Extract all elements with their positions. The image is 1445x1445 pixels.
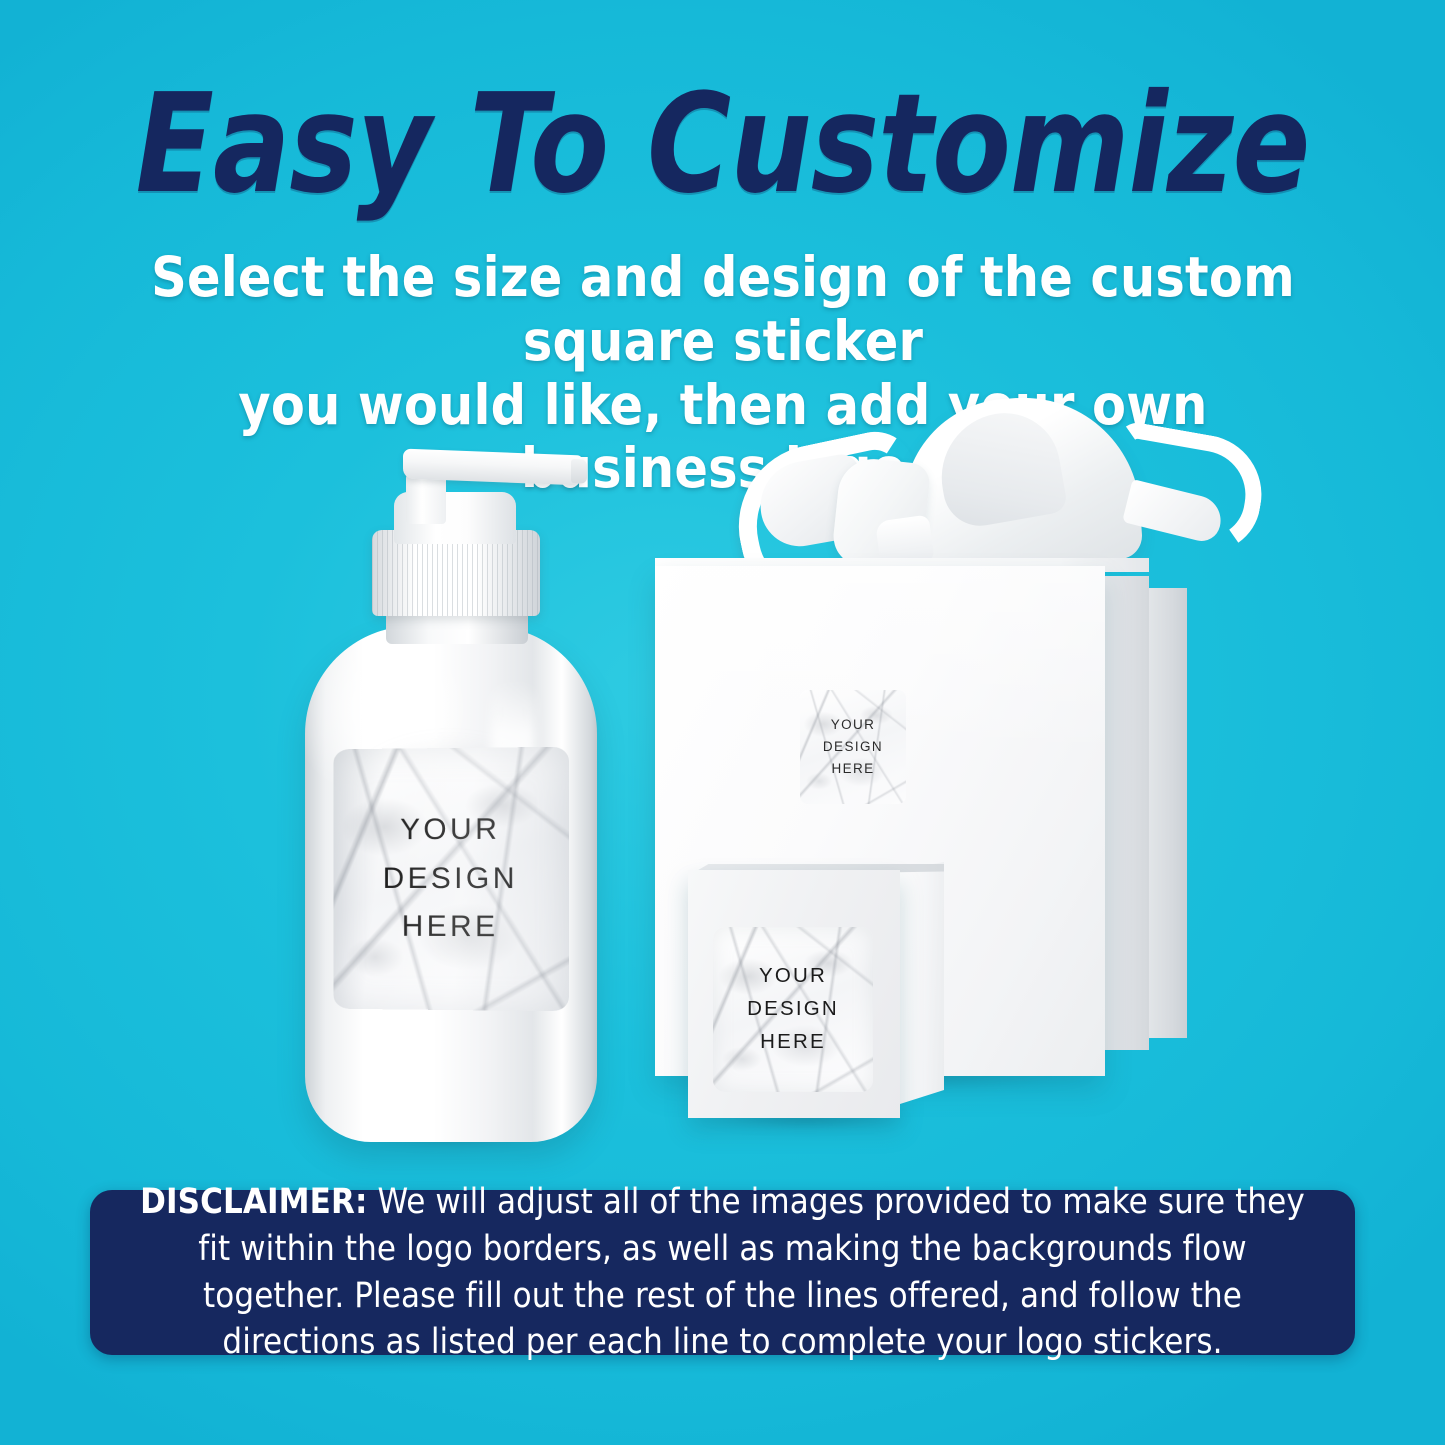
sticker-line-3: HERE: [831, 758, 874, 780]
giftbox-marble-sticker: YOUR DESIGN HERE: [800, 690, 906, 804]
disclaimer-box: DISCLAIMER: We will adjust all of the im…: [90, 1190, 1355, 1355]
bottle-marble-sticker: YOUR DESIGN HERE: [333, 747, 569, 1012]
sticker-line-1: YOUR: [400, 806, 500, 855]
disclaimer-term: DISCLAIMER:: [140, 1182, 367, 1222]
giftbox-side-panel: [1105, 576, 1149, 1050]
sticker-line-2: DESIGN: [747, 993, 839, 1026]
bottle-pump-plunger: [406, 474, 446, 524]
smallbox-marble-sticker: YOUR DESIGN HERE: [713, 927, 873, 1092]
page-title: Easy To Customize: [51, 76, 1395, 213]
sticker-line-3: HERE: [402, 903, 499, 952]
sticker-line-3: HERE: [760, 1026, 826, 1059]
sticker-line-2: DESIGN: [823, 736, 883, 758]
sticker-line-2: DESIGN: [383, 855, 518, 904]
disclaimer-text: DISCLAIMER: We will adjust all of the im…: [126, 1179, 1319, 1365]
smallbox-side-panel: [900, 862, 944, 1104]
subtitle-line-1: Select the size and design of the custom…: [151, 245, 1295, 373]
sticker-line-1: YOUR: [831, 714, 876, 736]
promo-graphic: Easy To Customize Select the size and de…: [0, 0, 1445, 1445]
sticker-line-1: YOUR: [759, 960, 827, 993]
giftbox-side-panel-back: [1149, 588, 1187, 1038]
